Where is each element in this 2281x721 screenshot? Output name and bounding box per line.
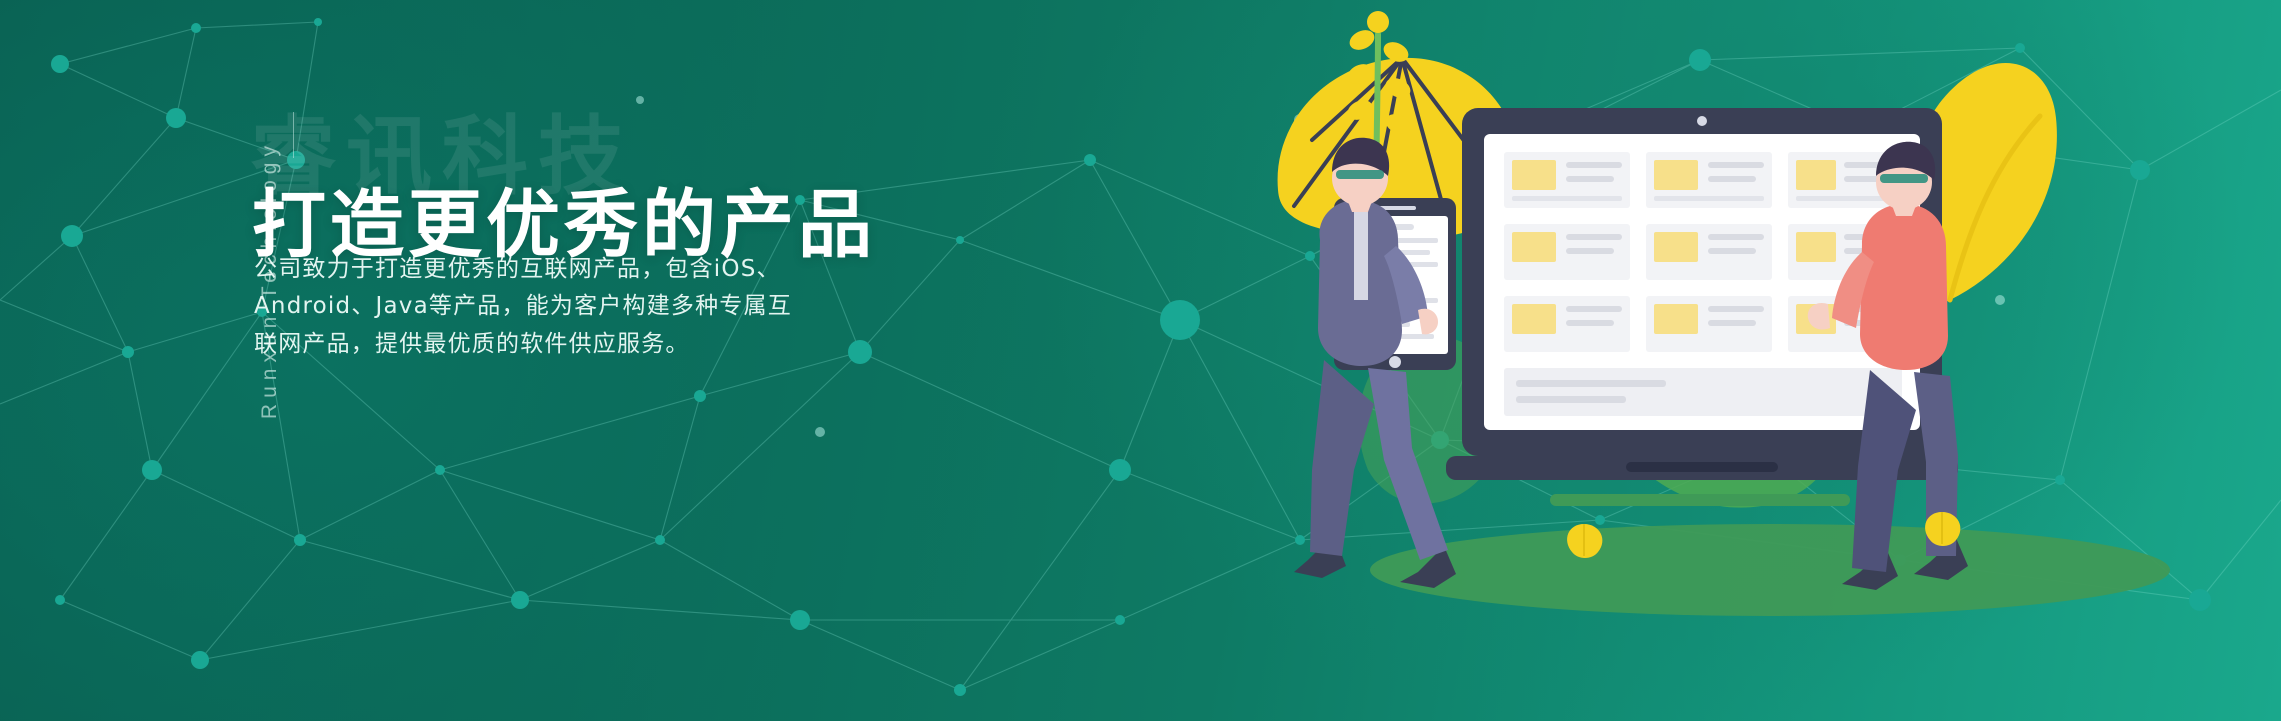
ground-ellipse — [1370, 524, 2170, 616]
hero-banner: 睿讯科技 Runxun Techlology 打造更优秀的产品 公司致力于打造更… — [0, 0, 2281, 721]
vertical-label-rule — [293, 112, 294, 158]
banner-description: 公司致力于打造更优秀的互联网产品，包含iOS、Android、Java等产品，能… — [254, 251, 810, 363]
hero-illustration — [1250, 0, 2281, 721]
